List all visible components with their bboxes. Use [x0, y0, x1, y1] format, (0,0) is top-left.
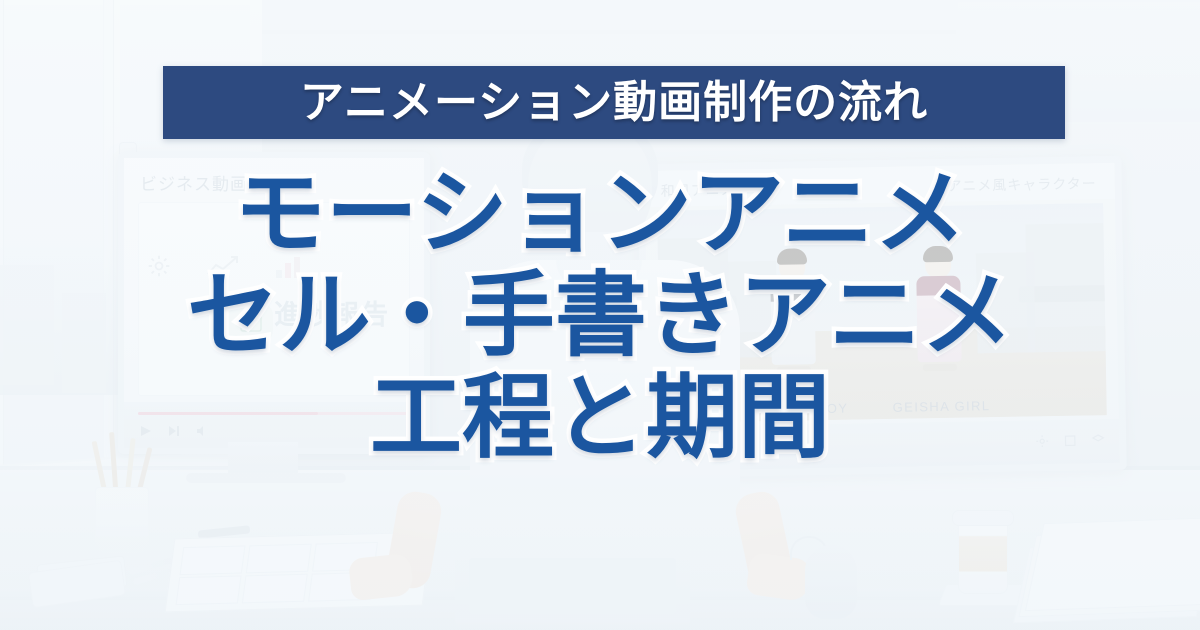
- poster-canvas: ビジネス動画: [0, 0, 1200, 630]
- subtitle-banner: アニメーション動画制作の流れ: [163, 66, 1065, 139]
- headline-line-3: 工程と期間: [0, 372, 1200, 466]
- subtitle-banner-label: アニメーション動画制作の流れ: [300, 81, 928, 125]
- poster-foreground: アニメーション動画制作の流れ モーションアニメ セル・手書きアニメ 工程と期間: [0, 0, 1200, 630]
- headline-line-2: セル・手書きアニメ: [0, 270, 1200, 364]
- headline-block: モーションアニメ セル・手書きアニメ 工程と期間: [0, 168, 1200, 465]
- headline-line-1: モーションアニメ: [0, 168, 1200, 262]
